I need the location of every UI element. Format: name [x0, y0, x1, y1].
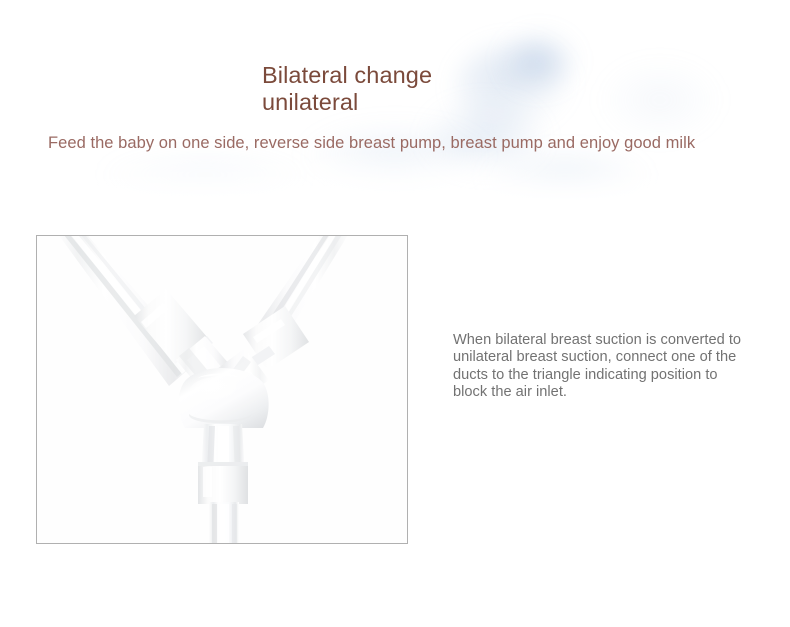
- watercolor-blob: [100, 152, 310, 198]
- product-image: [37, 236, 407, 543]
- product-feature-page: Bilateral change unilateral Feed the bab…: [0, 0, 790, 627]
- instruction-caption: When bilateral breast suction is convert…: [453, 332, 743, 402]
- y-connector-illustration: [37, 236, 407, 543]
- watercolor-blob: [480, 150, 650, 202]
- watercolor-blob: [300, 120, 490, 190]
- product-image-frame: [36, 235, 408, 544]
- page-subtitle: Feed the baby on one side, reverse side …: [48, 132, 734, 154]
- page-title: Bilateral change unilateral: [262, 62, 562, 116]
- watercolor-blob: [600, 60, 720, 140]
- watercolor-fade: [0, 150, 790, 215]
